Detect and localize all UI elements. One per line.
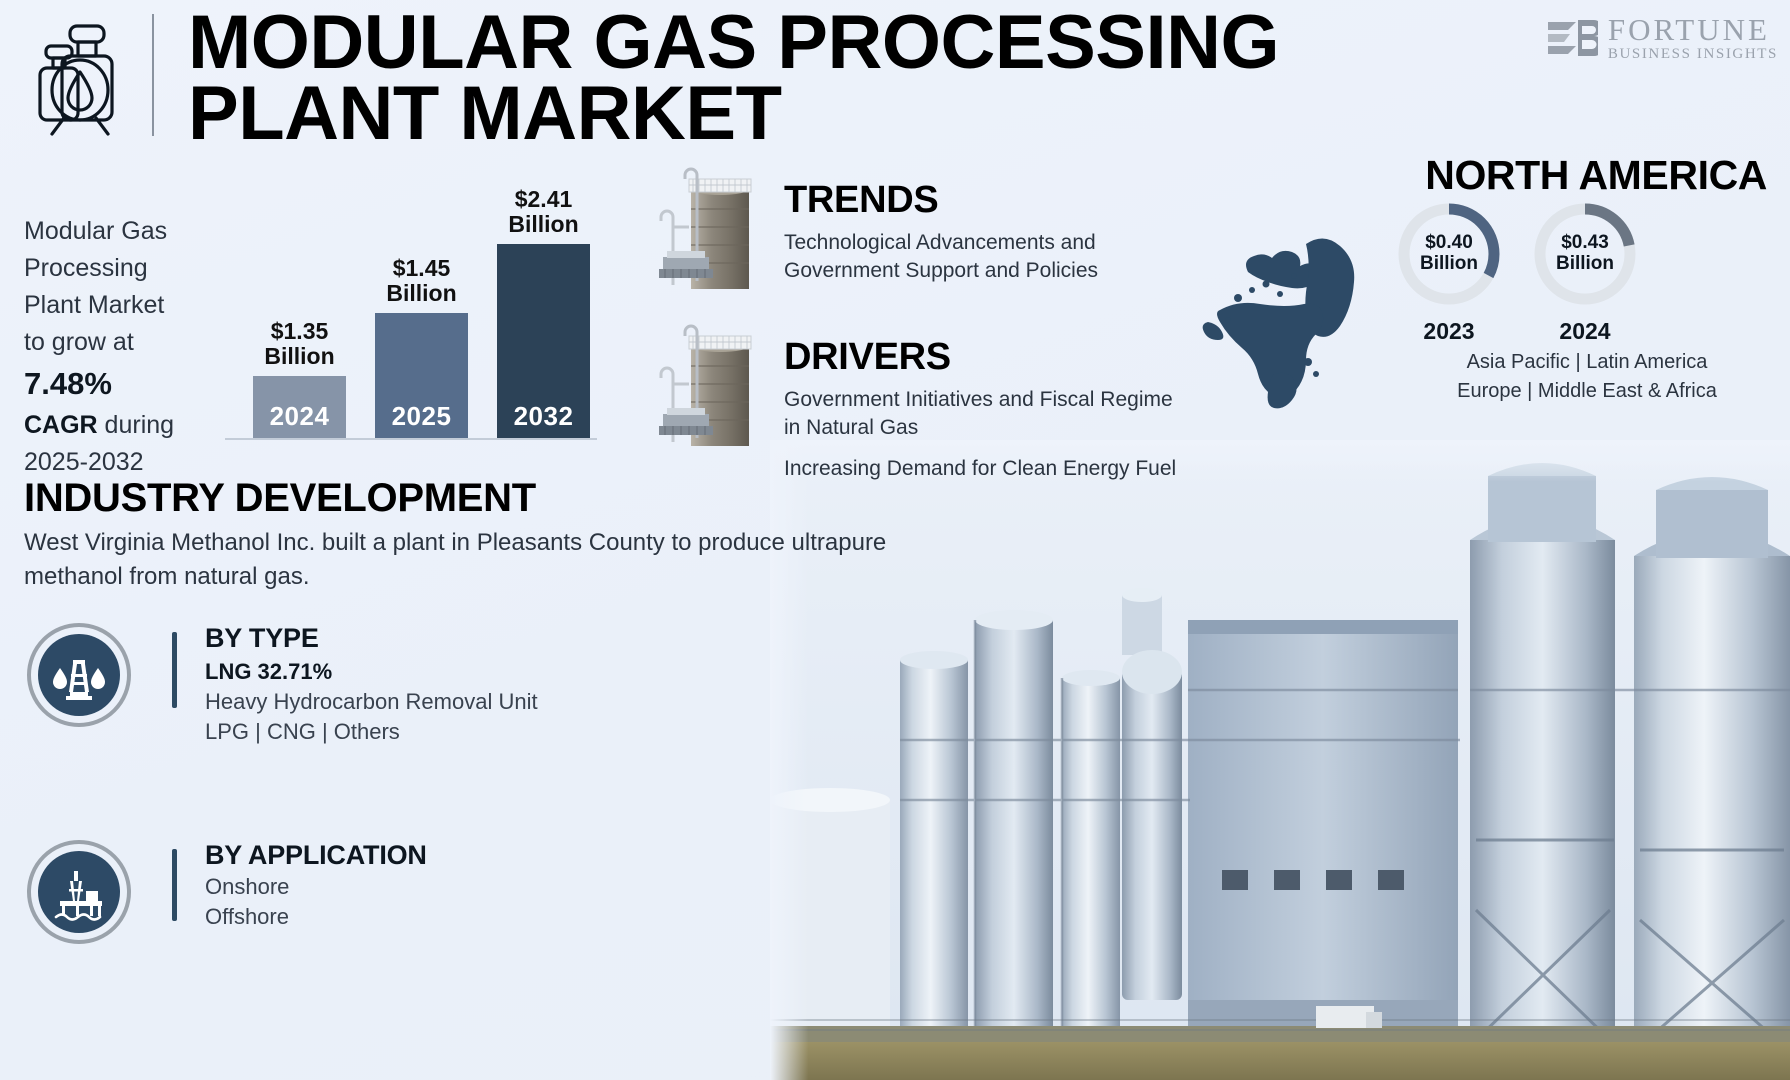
fb-logo-mark-icon [1546, 16, 1598, 60]
bar-year-2025: 2025 [392, 401, 452, 438]
gas-cylinder-droplet-icon [18, 14, 138, 136]
other-regions: Asia Pacific | Latin America Europe | Mi… [1407, 348, 1767, 406]
other-regions-line-1: Asia Pacific | Latin America [1407, 348, 1767, 377]
donut-2023-year: 2023 [1423, 318, 1474, 345]
cagr-label: CAGR [24, 411, 98, 439]
header-divider [152, 14, 154, 136]
by-application-item-1: Onshore [205, 874, 427, 900]
infographic-root: MODULAR GAS PROCESSING PLANT MARKET FORT… [0, 0, 1790, 1080]
region-section: NORTH AMERICA [1190, 152, 1775, 412]
by-type-item-2: LPG | CNG | Others [205, 719, 538, 745]
industry-development-text: West Virginia Methanol Inc. built a plan… [24, 526, 904, 593]
bar-2032: 2032 [497, 244, 590, 438]
donut-2023: $0.40 Billion 2023 [1395, 200, 1503, 345]
offshore-platform-icon [24, 837, 134, 947]
trends-text: Technological Advancements and Governmen… [784, 229, 1190, 284]
logo-line-1: FORTUNE [1608, 14, 1778, 45]
logo-line-2: BUSINESS INSIGHTS [1608, 47, 1778, 62]
drivers-block: DRIVERS Government Initiatives and Fisca… [645, 322, 1190, 483]
bar-2025: 2025 [375, 313, 468, 438]
donut-chart-2023: $0.40 Billion [1395, 200, 1503, 308]
drivers-text-1: Government Initiatives and Fiscal Regime… [784, 386, 1190, 441]
page-title: MODULAR GAS PROCESSING PLANT MARKET [188, 8, 1308, 149]
donut-chart-2024: $0.43 Billion [1531, 200, 1639, 308]
bar-label-2032: $2.41Billion [508, 187, 578, 237]
gas-processing-plant-icon [645, 165, 770, 300]
cagr-value: 7.48% [24, 361, 239, 407]
by-application-item-2: Offshore [205, 904, 427, 930]
chart-baseline [225, 438, 597, 440]
industry-development-section: INDUSTRY DEVELOPMENT West Virginia Metha… [24, 476, 904, 593]
summary-line-2: Plant Market [24, 287, 239, 324]
summary-line-3: to grow at [24, 324, 239, 361]
cagr-during: during [98, 411, 174, 439]
segment-by-type: BY TYPE LNG 32.71% Heavy Hydrocarbon Rem… [24, 620, 644, 745]
region-donut-group: $0.40 Billion 2023 $0.43 Billion [1395, 200, 1639, 345]
summary-line-1: Modular Gas Processing [24, 213, 239, 287]
segment-rule [172, 849, 177, 921]
bar-group-2025: $1.45Billion 2025 [375, 256, 468, 438]
bar-label-2025: $1.45Billion [386, 256, 456, 306]
by-application-heading: BY APPLICATION [205, 841, 427, 871]
segment-by-application: BY APPLICATION Onshore Offshore [24, 837, 644, 947]
north-america-map-icon [1190, 202, 1405, 417]
market-size-bar-chart: $1.35Billion 2024 $1.45Billion 2025 $2.4… [225, 190, 597, 440]
bar-label-2024: $1.35Billion [264, 319, 334, 369]
donut-2023-value: $0.40 Billion [1395, 200, 1503, 308]
industry-development-heading: INDUSTRY DEVELOPMENT [24, 476, 904, 520]
bar-group-2032: $2.41Billion 2032 [497, 187, 590, 438]
by-type-item-1: Heavy Hydrocarbon Removal Unit [205, 689, 538, 715]
region-heading: NORTH AMERICA [1425, 152, 1767, 199]
trends-heading: TRENDS [784, 181, 1190, 219]
bar-year-2032: 2032 [514, 401, 574, 438]
header: MODULAR GAS PROCESSING PLANT MARKET FORT… [0, 0, 1790, 150]
plant-photo [770, 440, 1790, 1080]
segment-rule [172, 632, 177, 708]
other-regions-line-2: Europe | Middle East & Africa [1407, 377, 1767, 406]
donut-2024-year: 2024 [1559, 318, 1610, 345]
bar-group-2024: $1.35Billion 2024 [253, 319, 346, 438]
market-summary: Modular Gas Processing Plant Market to g… [24, 213, 239, 481]
drivers-heading: DRIVERS [784, 338, 1190, 376]
bar-2024: 2024 [253, 376, 346, 438]
by-type-heading: BY TYPE [205, 624, 538, 654]
trends-drivers-section: TRENDS Technological Advancements and Go… [645, 165, 1190, 483]
by-type-highlight: LNG 32.71% [205, 659, 538, 685]
gas-processing-plant-icon [645, 322, 770, 457]
donut-2024-value: $0.43 Billion [1531, 200, 1639, 308]
oil-rig-droplets-icon [24, 620, 134, 730]
trends-block: TRENDS Technological Advancements and Go… [645, 165, 1190, 300]
fortune-business-insights-logo: FORTUNE BUSINESS INSIGHTS [1546, 12, 1778, 64]
bar-year-2024: 2024 [270, 401, 330, 438]
donut-2024: $0.43 Billion 2024 [1531, 200, 1639, 345]
segments-section: BY TYPE LNG 32.71% Heavy Hydrocarbon Rem… [24, 620, 644, 947]
